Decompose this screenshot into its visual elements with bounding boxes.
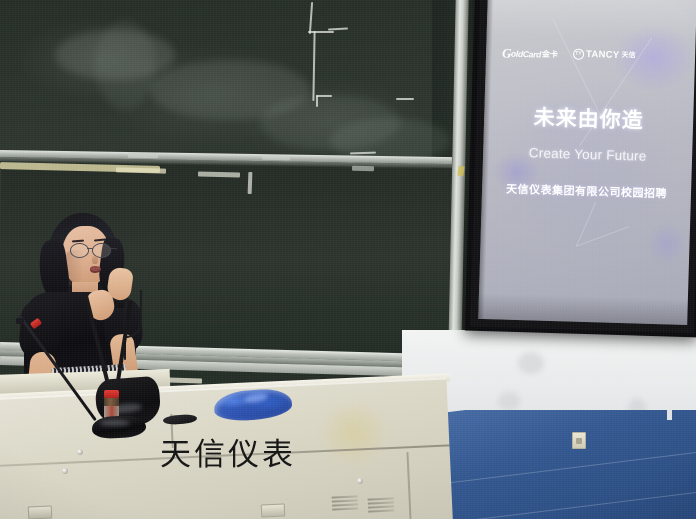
podium-handle[interactable]: [261, 503, 286, 517]
wall-smudge: [498, 392, 520, 410]
eyeglass-bridge: [87, 248, 93, 249]
goldcard-wordmark: oldCard: [511, 49, 541, 58]
slide-title: 未来由你造: [484, 106, 694, 133]
chalk-stroke: [316, 95, 332, 97]
podium-vent: [368, 497, 395, 514]
shoe-highlight: [100, 420, 130, 426]
podium-stain: [317, 402, 392, 469]
chalk-piece: [198, 171, 240, 177]
goldcard-g-mark: G: [502, 46, 511, 59]
screen-glare: [487, 0, 696, 41]
tancy-wordmark: TANCY: [586, 50, 620, 60]
eyeglasses-icon: [70, 243, 114, 256]
podium-screw: [77, 449, 83, 455]
chalk-stroke: [396, 98, 414, 100]
tancy-circle-mark: TY: [573, 49, 584, 60]
podium-screw: [62, 468, 68, 474]
projector-screen-surface[interactable]: G oldCard 金卡 TY TANCY 天信 未来由你造 Create Yo…: [478, 0, 696, 325]
chalk-stroke: [308, 31, 334, 33]
podium-vent: [332, 495, 359, 512]
slide-organization: 天信仪表集团有限公司校园招聘: [482, 183, 691, 200]
slide-subtitle: Create Your Future: [483, 145, 692, 165]
chalk-piece: [352, 166, 374, 171]
tancy-chinese-name: 天信: [621, 52, 635, 59]
goldcard-chinese-name: 金卡: [542, 51, 558, 59]
presenter-nose: [92, 256, 98, 264]
power-outlet[interactable]: [572, 432, 586, 449]
podium-handle[interactable]: [28, 505, 53, 519]
chalk-piece: [262, 155, 290, 160]
goldcard-logo: G oldCard 金卡: [502, 45, 558, 60]
podium-screw: [357, 478, 363, 484]
wall-fitting: [667, 410, 672, 420]
eyeglass-lens-left: [70, 243, 89, 258]
tancy-logo: TY TANCY 天信: [573, 49, 636, 62]
wall-smudge: [518, 352, 544, 374]
boom-end-cap: [16, 318, 24, 324]
slide-logo-row: G oldCard 金卡 TY TANCY 天信: [502, 45, 636, 62]
bottle-cap: [104, 390, 119, 398]
chalk-stroke: [316, 95, 318, 107]
podium-overlay-text: 天信仪表: [160, 440, 296, 471]
chalk-piece: [248, 172, 253, 194]
photo-scene: G oldCard 金卡 TY TANCY 天信 未来由你造 Create Yo…: [0, 0, 696, 519]
